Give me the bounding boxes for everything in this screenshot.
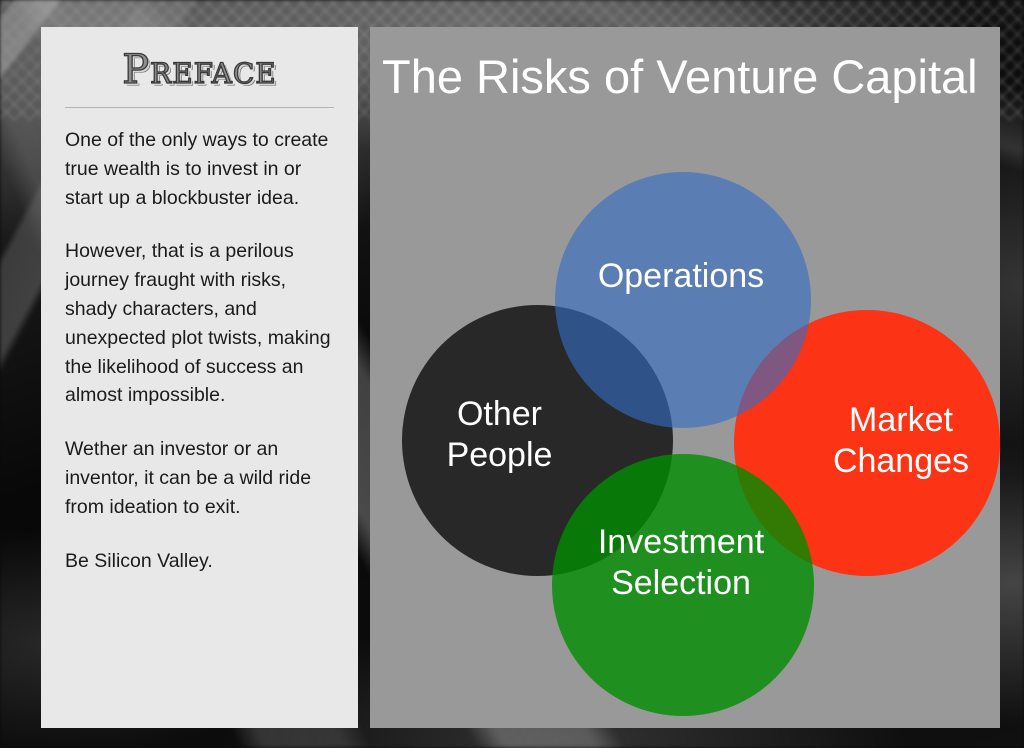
preface-body: One of the only ways to create true weal… [65,108,334,575]
venn-label-operations: Operations [598,256,764,297]
venn-diagram: OtherPeople MarketChanges Operations Inv… [370,27,1000,728]
venn-circle-investment-selection: InvestmentSelection [552,454,814,716]
preface-paragraph: Be Silicon Valley. [65,547,334,576]
slide-canvas: Preface One of the only ways to create t… [0,0,1024,748]
venn-circle-operations: Operations [555,172,811,428]
preface-panel: Preface One of the only ways to create t… [41,27,358,728]
preface-paragraph: However, that is a perilous journey frau… [65,237,334,410]
preface-paragraph: One of the only ways to create true weal… [65,126,334,212]
venn-label-market-changes: MarketChanges [833,400,969,482]
preface-title: Preface [65,27,334,91]
venn-label-other-people: OtherPeople [447,394,553,476]
preface-paragraph: Wether an investor or an inventor, it ca… [65,435,334,521]
venn-label-investment-selection: InvestmentSelection [598,522,764,604]
content-panel: The Risks of Venture Capital OtherPeople… [370,27,1000,728]
